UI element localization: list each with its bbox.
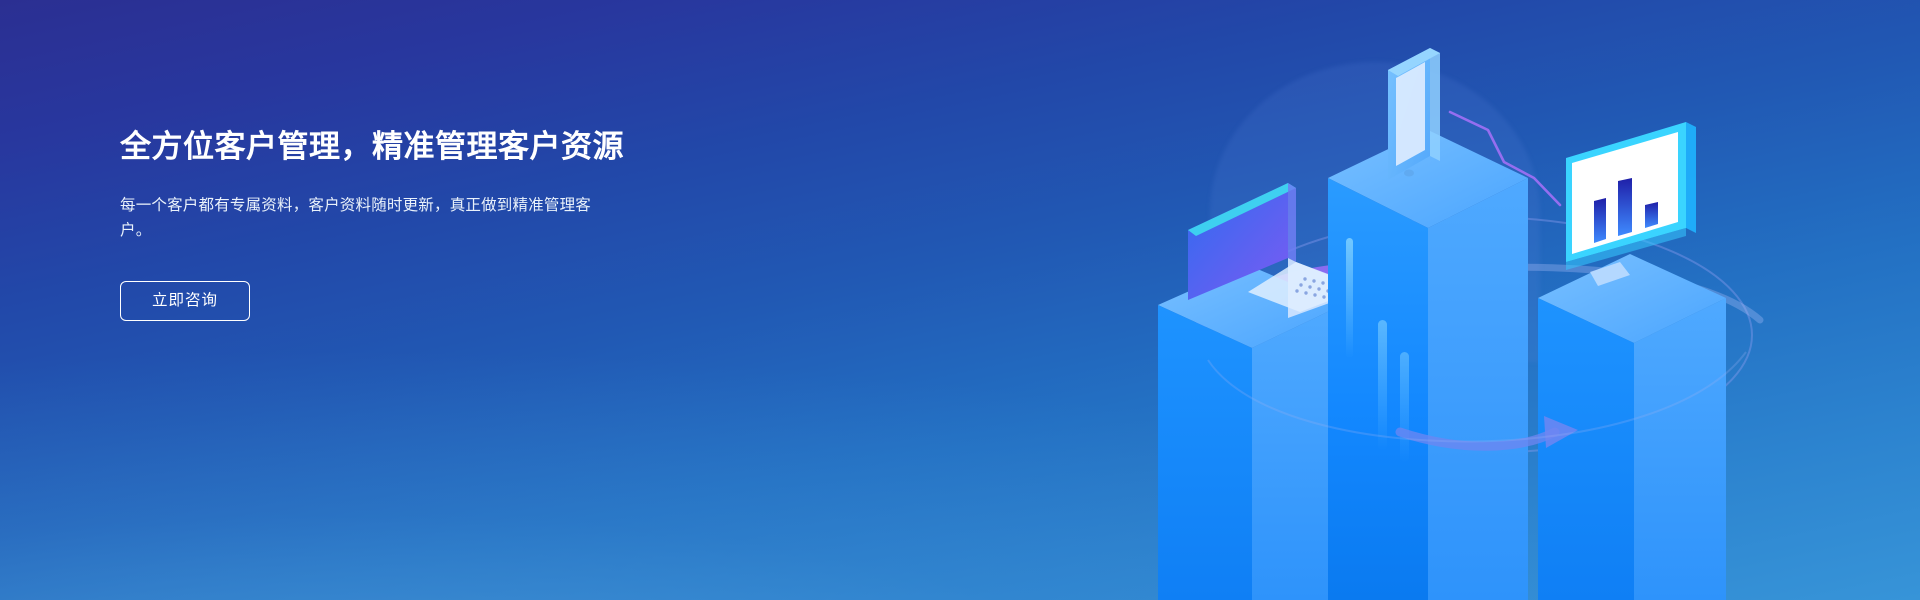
hero-banner: 全方位客户管理，精准管理客户资源 每一个客户都有专属资料，客户资料随时更新，真正… <box>0 0 1920 600</box>
pedestal-center <box>1328 130 1528 600</box>
page-title: 全方位客户管理，精准管理客户资源 <box>120 128 740 167</box>
pedestal-left <box>1158 265 1342 600</box>
illustration-isometric-data-columns <box>1100 0 1920 600</box>
consult-now-button[interactable]: 立即咨询 <box>120 281 250 321</box>
hero-copy: 全方位客户管理，精准管理客户资源 每一个客户都有专属资料，客户资料随时更新，真正… <box>120 128 740 321</box>
hero-subcopy: 每一个客户都有专属资料，客户资料随时更新，真正做到精准管理客户。 <box>120 193 598 243</box>
